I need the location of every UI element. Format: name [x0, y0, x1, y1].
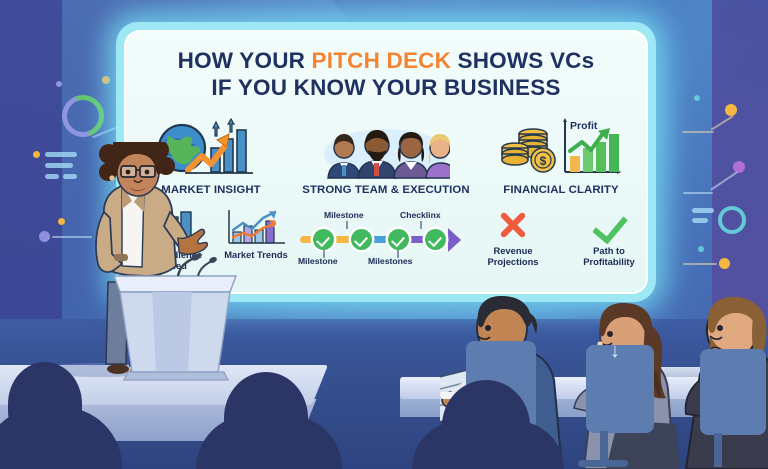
chair-leg	[714, 433, 722, 467]
title-post: SHOWS VCs	[451, 48, 594, 73]
column-heading: STRONG TEAM & EXECUTION	[302, 184, 469, 198]
podium-lectern	[112, 254, 242, 386]
decor-bar	[692, 208, 714, 213]
presentation-illustration: HOW YOUR PITCH DECK SHOWS VCs IF YOU KNO…	[0, 0, 768, 469]
decor-dot	[56, 81, 62, 87]
decor-dot	[694, 95, 700, 101]
ring-decor-icon	[718, 206, 746, 234]
decor-dot	[698, 246, 704, 252]
team-avatars-icon	[322, 118, 450, 180]
decor-line	[683, 263, 717, 265]
decor-dot	[102, 76, 110, 84]
decor-line	[683, 192, 713, 194]
decor-dot	[719, 258, 730, 269]
timeline-label-below-2: Milestones	[368, 256, 412, 266]
title-pre: HOW YOUR	[178, 48, 312, 73]
red-cross-icon	[496, 208, 530, 242]
chair	[586, 345, 654, 433]
decor-bar	[45, 174, 59, 179]
timeline-tick	[420, 221, 422, 229]
timeline-checkpoint	[351, 229, 372, 250]
chair	[700, 349, 766, 435]
down-arrow-accent-icon: ↓	[610, 340, 620, 363]
timeline-checkpoint	[313, 229, 334, 250]
profit-chart-label: Profit	[570, 120, 597, 132]
title-line2: IF YOU KNOW YOUR BUSINESS	[124, 75, 648, 102]
column-heading: FINANCIAL CLARITY	[503, 184, 618, 198]
timeline-checkpoint	[388, 229, 409, 250]
chair-leg	[578, 460, 628, 467]
audience-silhouette-shoulders	[412, 421, 564, 469]
decor-dot	[39, 231, 50, 242]
timeline-label-below-1: Milestone	[298, 256, 338, 266]
decor-line	[682, 131, 714, 133]
sub-item: Revenue Projections	[475, 208, 551, 267]
timeline-arrow-icon	[448, 228, 461, 252]
sub-item-label: Path to Profitability	[571, 245, 647, 267]
column-strong-team: STRONG TEAM & EXECUTION Milestone Checkl…	[298, 118, 474, 294]
decor-dot	[58, 218, 65, 225]
timeline-label-above-1: Milestone	[324, 210, 364, 220]
column-financial-clarity: $ Profit FINANCIAL CLARITY	[474, 118, 648, 294]
slide-title: HOW YOUR PITCH DECK SHOWS VCs IF YOU KNO…	[124, 48, 648, 101]
green-check-icon	[592, 208, 626, 242]
svg-text:$: $	[540, 154, 547, 168]
timeline-checkpoint	[425, 229, 446, 250]
milestone-timeline: Milestone Checklinx Milestone	[298, 210, 474, 266]
coins-profit-chart-icon: $	[499, 118, 623, 180]
timeline-label-above-2: Checklinx	[400, 210, 441, 220]
decor-bar	[45, 152, 77, 157]
decor-dot	[725, 104, 737, 116]
decor-bar	[692, 218, 708, 223]
sub-items: Revenue Projections Path to Profitabilit…	[474, 208, 648, 267]
sub-item: Path to Profitability	[571, 208, 647, 267]
decor-bar	[63, 174, 77, 179]
decor-bar	[45, 163, 73, 168]
decor-dot	[33, 151, 40, 158]
trend-lines-chart-icon	[225, 208, 287, 246]
timeline-tick	[346, 221, 348, 229]
sub-item-label: Revenue Projections	[475, 245, 551, 267]
title-highlight: PITCH DECK	[312, 48, 452, 73]
